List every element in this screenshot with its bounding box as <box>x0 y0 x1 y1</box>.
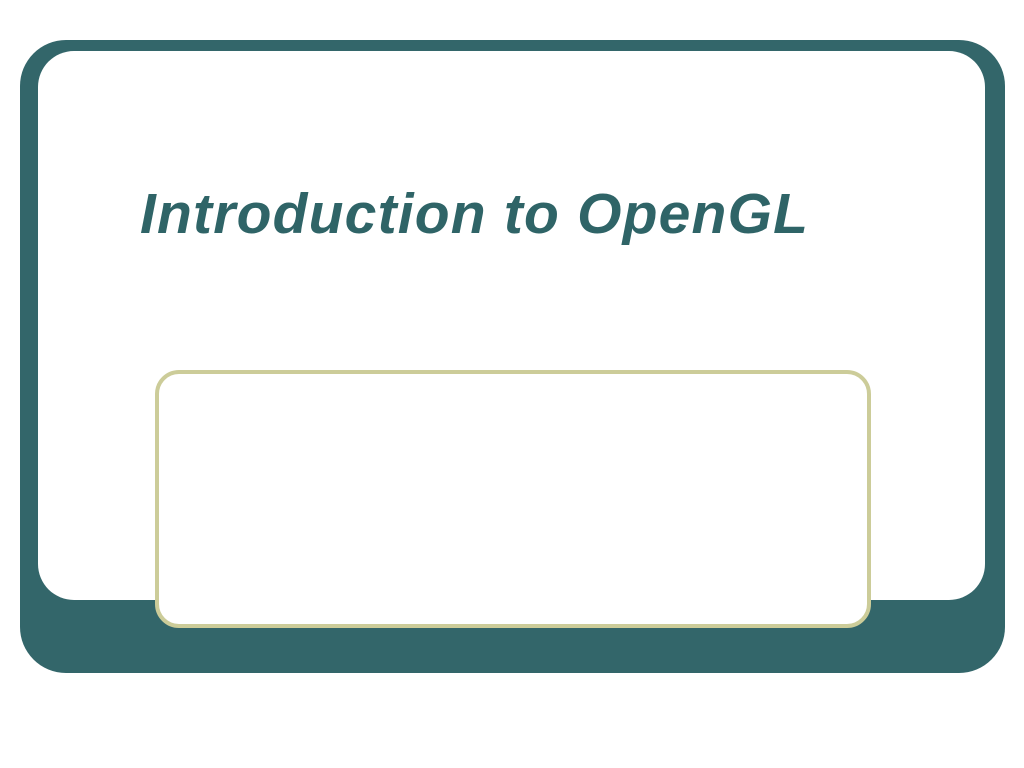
page-title: Introduction to OpenGL <box>140 182 900 248</box>
content-placeholder-text <box>185 392 841 606</box>
slide-canvas: Introduction to OpenGL <box>0 0 1024 768</box>
content-placeholder-box[interactable] <box>155 370 871 628</box>
